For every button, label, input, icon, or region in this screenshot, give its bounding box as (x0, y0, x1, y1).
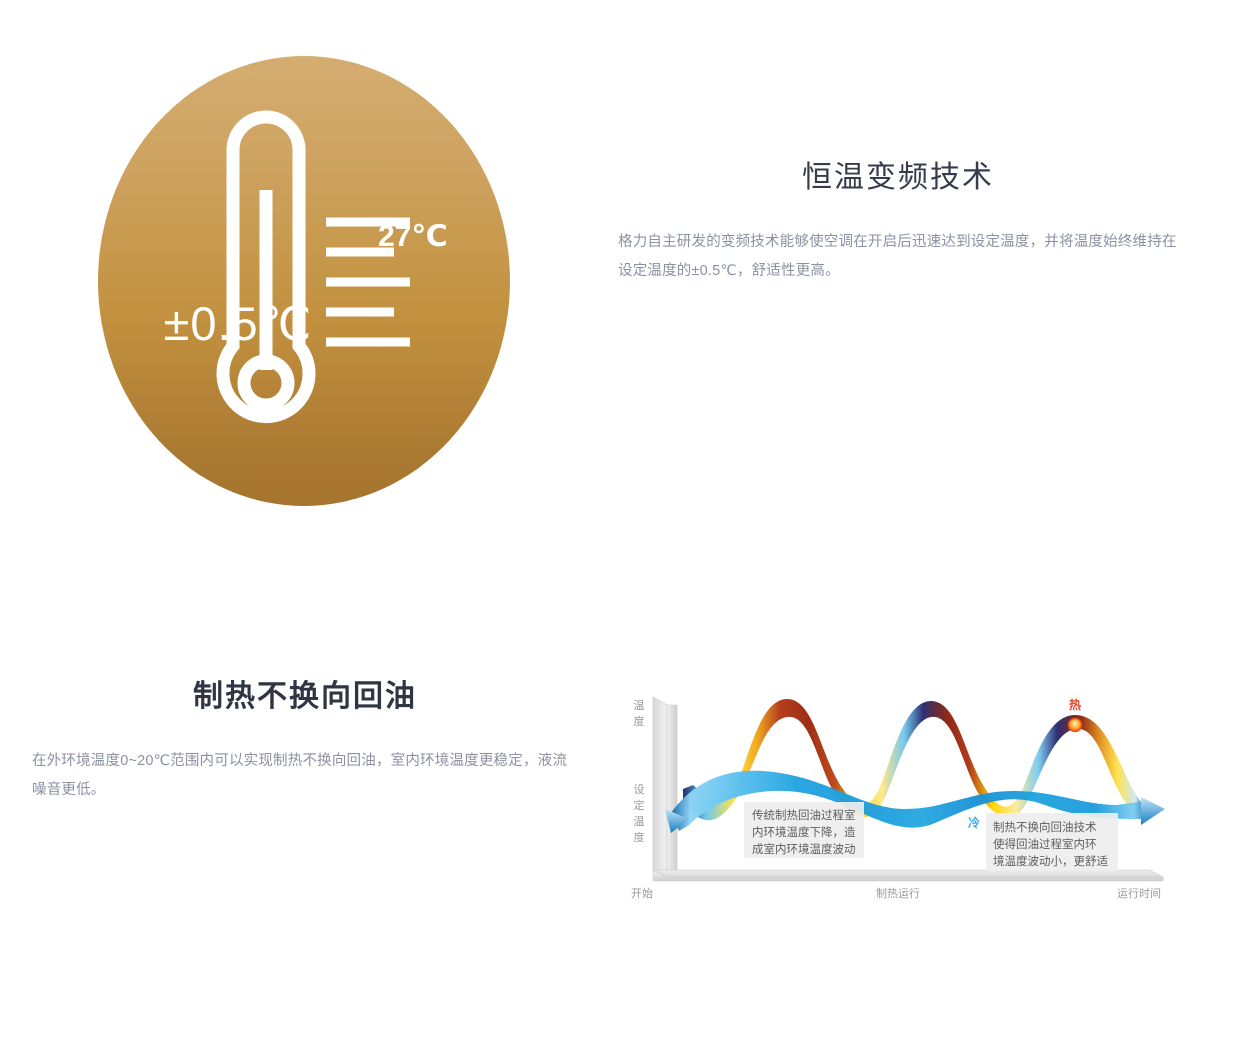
temperature-fluctuation-chart: 温 度 设 定 温 度 开始 制热运行 运行时间 热 冷 传统制热回油过程室 内… (605, 685, 1185, 900)
feature-section-constant-temperature: 27℃ ±0.5℃ 恒温变频技术 格力自主研发的变频技术能够使空调在开启后迅速达… (0, 0, 1233, 560)
badge-set-temperature-label: 27℃ (378, 222, 448, 252)
section-two-description: 在外环境温度0~20℃范围内可以实现制热不换向回油，室内环境温度更稳定，液流噪音… (32, 747, 580, 805)
hot-marker-dot (1069, 719, 1082, 732)
thermometer-badge: 27℃ ±0.5℃ (98, 56, 510, 506)
callout-new-technology: 制热不换向回油技术 使得回油过程室内环 境温度波动小，更舒适 (986, 813, 1118, 871)
chart-xlabel-middle: 制热运行 (876, 887, 920, 900)
chart-x-axis (653, 870, 1163, 881)
chart-ylabel-top-char1: 温 (634, 699, 645, 712)
chart-ylabel-base-char2: 定 (634, 798, 645, 812)
chart-ylabel-top-char2: 度 (634, 714, 645, 728)
page-title: 恒温变频技术 (618, 158, 1178, 199)
chart-xlabel-start: 开始 (631, 886, 653, 900)
chart-xlabel-end: 运行时间 (1117, 887, 1161, 900)
chart-y-axis (653, 697, 677, 877)
callout-traditional: 传统制热回油过程室 内环境温度下降，造 成室内环境温度波动 (744, 802, 864, 858)
chart-ylabel-base-char3: 温 (634, 815, 645, 828)
hot-marker-label: 热 (1069, 697, 1081, 712)
callout-traditional-line2: 内环境温度下降，造 (752, 825, 856, 839)
callout-traditional-line3: 成室内环境温度波动 (752, 842, 856, 856)
feature-section-no-reverse-oil-return: 制热不换向回油 在外环境温度0~20℃范围内可以实现制热不换向回油，室内环境温度… (0, 560, 1233, 1047)
chart-ylabel-base-char4: 度 (634, 830, 645, 844)
callout-traditional-line1: 传统制热回油过程室 (752, 808, 856, 822)
section-one-description: 格力自主研发的变频技术能够使空调在开启后迅速达到设定温度，并将温度始终维持在设定… (618, 228, 1178, 286)
cold-marker-label: 冷 (968, 815, 980, 830)
callout-new-tech-line1: 制热不换向回油技术 (993, 820, 1097, 834)
section-two-title: 制热不换向回油 (20, 677, 590, 718)
badge-tolerance-label: ±0.5℃ (118, 300, 358, 347)
callout-new-tech-line3: 境温度波动小，更舒适 (993, 854, 1108, 868)
thermometer-icon (98, 56, 510, 506)
callout-new-tech-line2: 使得回油过程室内环 (993, 837, 1097, 851)
chart-ylabel-base-char1: 设 (634, 783, 645, 796)
